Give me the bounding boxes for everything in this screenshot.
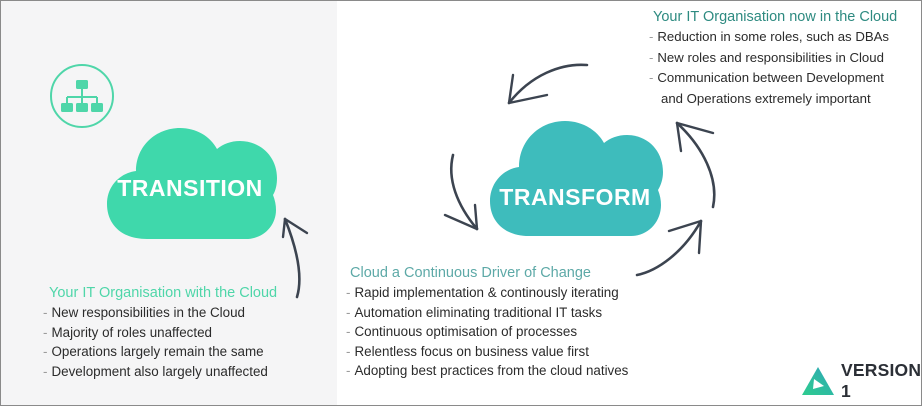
list-item: -Automation eliminating traditional IT t… <box>346 303 628 323</box>
list-item: -Relentless focus on business value firs… <box>346 342 628 362</box>
list-item-label: Reduction in some roles, such as DBAs <box>657 29 889 44</box>
list-item-label: Adopting best practices from the cloud n… <box>354 363 628 378</box>
list-item: -Continuous optimisation of processes <box>346 322 628 342</box>
heading-with-cloud: Your IT Organisation with the Cloud <box>43 284 277 303</box>
transition-cloud-label: TRANSITION <box>101 175 279 202</box>
bullet-list-now-in-cloud: -Reduction in some roles, such as DBAs -… <box>649 27 897 109</box>
list-item: -Development also largely unaffected <box>43 362 277 382</box>
bullet-dash: - <box>346 344 350 359</box>
list-item: -Communication between Development <box>649 68 897 89</box>
list-item-label: Communication between Development <box>657 70 884 85</box>
list-item: -Rapid implementation & continously iter… <box>346 283 628 303</box>
bullet-dash: - <box>43 344 47 359</box>
list-item-label: and Operations extremely important <box>661 91 871 106</box>
list-item-label: Development also largely unaffected <box>51 364 267 379</box>
bullet-dash: - <box>346 363 350 378</box>
slide-canvas: TRANSITION TRANSFORM <box>0 0 922 406</box>
list-item: -New roles and responsibilities in Cloud <box>649 48 897 69</box>
arrow-up-right-icon <box>635 213 713 279</box>
heading-now-in-cloud: Your IT Organisation now in the Cloud <box>649 8 897 27</box>
text-block-driver-of-change: Cloud a Continuous Driver of Change -Rap… <box>346 264 628 381</box>
bullet-dash: - <box>649 50 653 65</box>
bullet-dash: - <box>43 364 47 379</box>
list-item: -Adopting best practices from the cloud … <box>346 361 628 381</box>
list-item: -Reduction in some roles, such as DBAs <box>649 27 897 48</box>
list-item-label: New responsibilities in the Cloud <box>51 305 245 320</box>
list-item-label: Continuous optimisation of processes <box>354 324 577 339</box>
text-block-with-cloud: Your IT Organisation with the Cloud -New… <box>43 284 277 381</box>
bullet-list-driver-of-change: -Rapid implementation & continously iter… <box>346 283 628 381</box>
list-item: -New responsibilities in the Cloud <box>43 303 277 323</box>
arrow-down-left-icon <box>431 153 489 235</box>
transition-cloud: TRANSITION <box>101 114 279 239</box>
list-item-continuation: and Operations extremely important <box>649 89 897 110</box>
list-item-label: Automation eliminating traditional IT ta… <box>354 305 602 320</box>
bullet-dash: - <box>346 324 350 339</box>
arrow-up-right-icon <box>273 201 329 299</box>
list-item-label: Majority of roles unaffected <box>51 325 212 340</box>
bullet-dash: - <box>649 29 653 44</box>
version1-logo: VERSION 1 <box>801 363 915 399</box>
list-item-label: Relentless focus on business value first <box>354 344 588 359</box>
bullet-dash: - <box>43 305 47 320</box>
bullet-dash: - <box>346 305 350 320</box>
transform-cloud-label: TRANSFORM <box>485 184 665 211</box>
heading-driver-of-change: Cloud a Continuous Driver of Change <box>346 264 628 283</box>
list-item-label: New roles and responsibilities in Cloud <box>657 50 884 65</box>
list-item-label: Operations largely remain the same <box>51 344 263 359</box>
bullet-dash: - <box>43 325 47 340</box>
text-block-now-in-cloud: Your IT Organisation now in the Cloud -R… <box>649 8 897 109</box>
triangle-play-icon <box>801 366 835 396</box>
arrow-down-left-curve-icon <box>501 59 589 121</box>
list-item: -Majority of roles unaffected <box>43 323 277 343</box>
bullet-dash: - <box>346 285 350 300</box>
list-item: -Operations largely remain the same <box>43 342 277 362</box>
bullet-dash: - <box>649 70 653 85</box>
arrow-up-left-icon <box>669 109 723 209</box>
list-item-label: Rapid implementation & continously itera… <box>354 285 618 300</box>
version1-wordmark: VERSION 1 <box>841 360 921 402</box>
bullet-list-with-cloud: -New responsibilities in the Cloud -Majo… <box>43 303 277 381</box>
